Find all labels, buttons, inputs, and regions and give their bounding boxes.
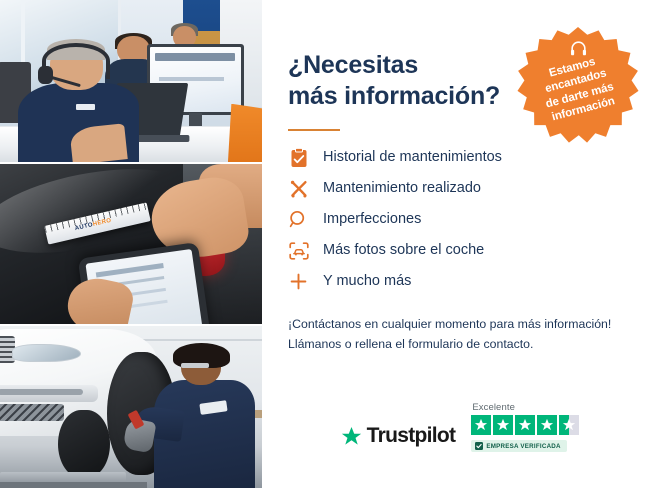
headset-icon: [569, 39, 588, 58]
magnifier-icon: [288, 209, 309, 230]
verified-company-text: EMPRESA VERIFICADA: [486, 443, 560, 450]
verified-company-badge: EMPRESA VERIFICADA: [471, 440, 566, 452]
trustpilot-star-1: [471, 415, 491, 435]
feature-label: Mantenimiento realizado: [323, 181, 481, 197]
verified-check-icon: [475, 442, 483, 450]
feature-label: Imperfecciones: [323, 212, 421, 228]
clipboard-check-icon: [288, 147, 309, 168]
trustpilot-logo[interactable]: Trustpilot: [341, 424, 456, 452]
feature-label: Y mucho más: [323, 274, 411, 290]
promo-badge: Estamos encantados de darte más informac…: [516, 27, 640, 151]
trustpilot-rating[interactable]: Trustpilot Excelente: [288, 402, 632, 452]
contact-info-banner: AUTOHERO: [0, 0, 650, 488]
photo-call-center-agent-headset: [0, 0, 262, 162]
trustpilot-star-4: [537, 415, 557, 435]
photo-mechanic-inspecting-wheel: [0, 326, 262, 488]
headline-line-2: más información?: [288, 81, 538, 112]
content-panel: ¿Necesitas más información? Estamos enca…: [262, 0, 650, 488]
trustpilot-logo-text: Trustpilot: [367, 424, 456, 448]
feature-item-more-photos: Más fotos sobre el coche: [288, 240, 624, 261]
trustpilot-stars: [471, 415, 579, 435]
contact-line-1: ¡Contáctanos en cualquier momento para m…: [288, 314, 624, 334]
trustpilot-star-2: [493, 415, 513, 435]
trustpilot-star-icon: [341, 426, 362, 447]
contact-line-2: Llámanos o rellena el formulario de cont…: [288, 334, 624, 354]
photo-column: AUTOHERO: [0, 0, 262, 488]
page-title: ¿Necesitas más información?: [288, 50, 538, 111]
trustpilot-star-5-half: [559, 415, 579, 435]
feature-item-imperfections: Imperfecciones: [288, 209, 624, 230]
contact-text: ¡Contáctanos en cualquier momento para m…: [288, 314, 624, 355]
feature-item-much-more: Y mucho más: [288, 271, 624, 292]
feature-item-maintenance-done: Mantenimiento realizado: [288, 178, 624, 199]
plus-icon: [288, 271, 309, 292]
trustpilot-rating-label: Excelente: [472, 402, 515, 413]
badge-text: Estamos encantados de darte más informac…: [537, 52, 619, 126]
car-photo-frame-icon: [288, 240, 309, 261]
photo-inspection-ruler-on-car: AUTOHERO: [0, 164, 262, 324]
feature-label: Más fotos sobre el coche: [323, 243, 484, 259]
trustpilot-star-3: [515, 415, 535, 435]
headline-line-1: ¿Necesitas: [288, 50, 538, 81]
feature-list: Historial de mantenimientos Mantenimient…: [288, 147, 624, 292]
feature-label: Historial de mantenimientos: [323, 150, 502, 166]
tools-cross-icon: [288, 178, 309, 199]
title-divider: [288, 129, 340, 131]
